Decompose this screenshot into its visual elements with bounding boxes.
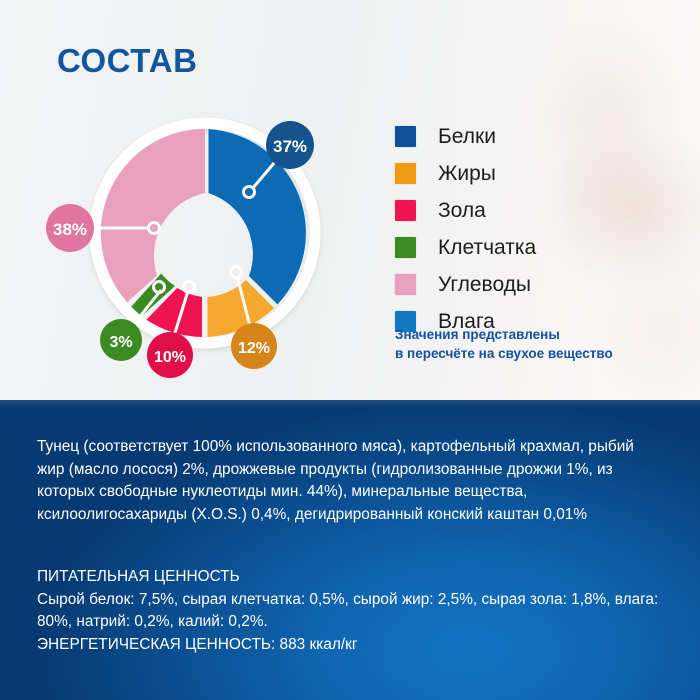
slice-carbohydrates[interactable]: [101, 129, 205, 302]
legend-swatch-fats: [395, 163, 416, 184]
legend-swatch-carbohydrates: [395, 274, 416, 295]
bubble-proteins-value: 37%: [273, 137, 307, 156]
nutrition-values: Сырой белок: 7,5%, сырая клетчатка: 0,5%…: [37, 589, 664, 634]
legend-label-fats: Жиры: [438, 162, 496, 186]
page-title: СОСТАВ: [57, 42, 197, 80]
bubble-carbohydrates-value: 38%: [53, 220, 87, 239]
legend-item-fiber[interactable]: Клетчатка: [395, 229, 536, 266]
donut-chart-svg: 37% 38% 3% 10%: [46, 88, 366, 398]
legend-item-carbohydrates[interactable]: Углеводы: [395, 266, 536, 303]
legend-item-ash[interactable]: Зола: [395, 192, 536, 229]
legend-label-fiber: Клетчатка: [438, 236, 536, 260]
legend-swatch-proteins: [395, 126, 416, 147]
legend-swatch-fiber: [395, 237, 416, 258]
energy-value: ЭНЕРГЕТИЧЕСКАЯ ЦЕННОСТЬ: 883 ккал/кг: [37, 634, 664, 657]
legend-note-line2: в пересчёте на свухое вещество: [395, 344, 613, 363]
legend-item-fats[interactable]: Жиры: [395, 155, 536, 192]
nutrition-block: ПИТАТЕЛЬНАЯ ЦЕННОСТЬ Сырой белок: 7,5%, …: [37, 566, 664, 657]
infographic-page: СОСТАВ: [0, 0, 700, 700]
legend-swatch-ash: [395, 200, 416, 221]
legend-note: Значения представлены в пересчёте на сву…: [395, 325, 613, 363]
bubble-ash-value: 10%: [154, 349, 186, 366]
bubble-fats-value: 12%: [238, 340, 270, 357]
legend-note-line1: Значения представлены: [395, 325, 613, 344]
bubble-fiber-value: 3%: [109, 334, 132, 351]
donut-chart: 37% 38% 3% 10%: [46, 88, 366, 398]
legend-label-ash: Зола: [438, 199, 486, 223]
ingredients-text: Тунец (соответствует 100% использованног…: [37, 436, 664, 527]
chart-legend: Белки Жиры Зола Клетчатка Углеводы Влага: [395, 118, 536, 340]
nutrition-heading: ПИТАТЕЛЬНАЯ ЦЕННОСТЬ: [37, 566, 664, 589]
legend-label-carbohydrates: Углеводы: [438, 273, 531, 297]
legend-label-proteins: Белки: [438, 125, 496, 149]
legend-item-proteins[interactable]: Белки: [395, 118, 536, 155]
